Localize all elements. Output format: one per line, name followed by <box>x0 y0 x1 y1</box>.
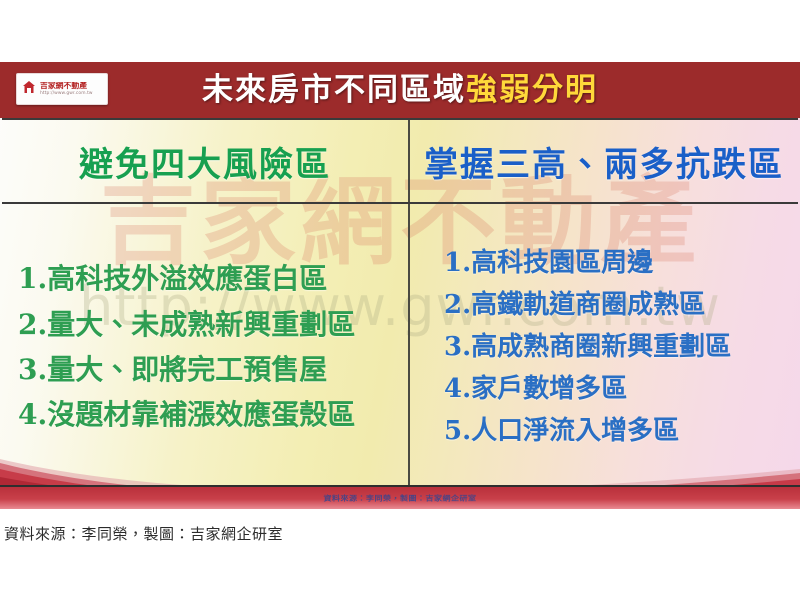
column-header-risk: 避免四大風險區 <box>2 120 410 202</box>
brand-logo-text: 吉家網不動產 http://www.gwr.com.tw <box>40 82 93 96</box>
slide-title: 未來房市不同區域強弱分明 <box>0 62 800 118</box>
table-header-row: 避免四大風險區 掌握三高、兩多抗跌區 <box>2 120 798 204</box>
slide-footer-strip: 資料來源：李同榮，製圖：吉家網企研室 <box>0 485 800 509</box>
list-item: 3.高成熟商圈新興重劃區 <box>444 326 794 368</box>
slide: 吉家網不動產 http://www.gwr.com.tw 吉家網不動產 http… <box>0 62 800 509</box>
house-logo-icon <box>21 78 37 100</box>
slide-header-bar: 吉家網不動產 http://www.gwr.com.tw 未來房市不同區域強弱分… <box>0 62 800 118</box>
column-body-resilient: 1.高科技園區周邊 2.高鐵軌道商圈成熟區 3.高成熟商圈新興重劃區 4.家戶數… <box>410 204 798 498</box>
brand-logo-name: 吉家網不動產 <box>40 82 92 90</box>
list-item: 5.人口淨流入增多區 <box>444 410 794 452</box>
column-header-resilient: 掌握三高、兩多抗跌區 <box>410 120 798 202</box>
list-item: 2.量大、未成熟新興重劃區 <box>18 302 404 347</box>
slide-title-main: 未來房市不同區域 <box>202 72 466 108</box>
comparison-table: 避免四大風險區 掌握三高、兩多抗跌區 1.高科技外溢效應蛋白區 2.量大、未成熟… <box>2 118 798 498</box>
column-body-risk: 1.高科技外溢效應蛋白區 2.量大、未成熟新興重劃區 3.量大、即將完工預售屋 … <box>2 204 410 498</box>
source-caption: 資料來源：李同榮，製圖：吉家網企研室 <box>4 523 283 544</box>
list-item: 4.家戶數增多區 <box>444 368 794 410</box>
list-item: 2.高鐵軌道商圈成熟區 <box>444 284 794 326</box>
list-item: 1.高科技園區周邊 <box>444 242 794 284</box>
footer-ghost-text: 資料來源：李同榮，製圖：吉家網企研室 <box>324 493 477 502</box>
list-item: 3.量大、即將完工預售屋 <box>18 347 404 392</box>
list-item: 1.高科技外溢效應蛋白區 <box>18 256 404 301</box>
brand-logo[interactable]: 吉家網不動產 http://www.gwr.com.tw <box>16 73 108 105</box>
brand-logo-url: http://www.gwr.com.tw <box>40 92 93 96</box>
table-body-row: 1.高科技外溢效應蛋白區 2.量大、未成熟新興重劃區 3.量大、即將完工預售屋 … <box>2 204 798 498</box>
slide-title-highlight: 強弱分明 <box>466 72 598 108</box>
list-item: 4.沒題材靠補漲效應蛋殼區 <box>18 392 404 437</box>
